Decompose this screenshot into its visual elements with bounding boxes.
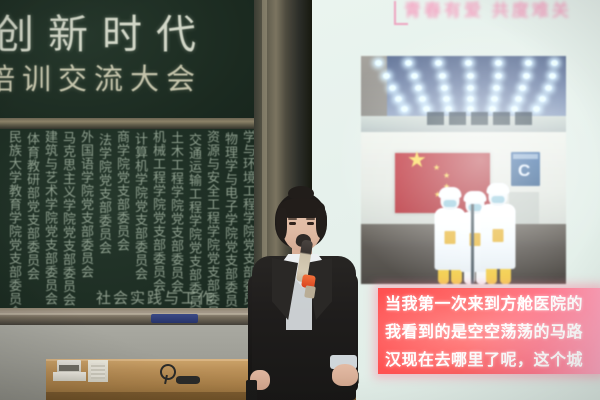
remote-receiver-icon	[176, 376, 200, 384]
desk-eraser-icon	[88, 360, 108, 382]
blackboard-eraser-icon	[151, 314, 198, 323]
chalk-column: 马克思主义学院党支部委员会	[60, 131, 74, 307]
microphone-tail	[304, 285, 316, 298]
slide-photo-field-hospital: ★ ★ ★ ★	[361, 56, 566, 284]
subtitle-line-1: 当我第一次来到方舱医院的	[385, 290, 583, 314]
chalk-column: 机械工程学院党支部委员会	[150, 130, 164, 292]
chalk-column: 建筑与艺术学院党支部委员会	[42, 130, 56, 306]
presenter-eye-left	[289, 222, 296, 225]
classroom-presentation-photo: 青春有爱 共度难关	[0, 0, 600, 400]
presenter-hair-side-left	[276, 208, 287, 240]
presenter-hair-side-right	[316, 208, 327, 238]
chalk-column: 民族大学教育学院党支部委员会	[6, 130, 20, 319]
presenter-eye-right	[307, 222, 314, 225]
student-presenter	[228, 192, 368, 400]
presenter-right-hand	[332, 364, 358, 386]
chalk-column: 商学院党支部委员会	[114, 130, 128, 252]
photo-ceiling-lights	[361, 56, 566, 120]
presenter-eyebrow-left	[288, 218, 297, 220]
chalk-column: 计算机学院党支部委员会	[132, 132, 146, 281]
photo-sign-text-blur	[513, 154, 538, 159]
photo-window-row	[427, 112, 535, 125]
chalk-column: 法学院党支部委员会	[96, 133, 110, 255]
subtitle-line-3: 汉现在去哪里了呢，这个城	[385, 346, 583, 370]
slide-pink-handwriting: 青春有爱 共度难关	[404, 0, 594, 18]
blackboard-chalk-columns: 学与环境工程学院党支部委员会 物理学与电子学院党支部委员会 资源与安全工程学院党…	[0, 130, 258, 312]
subtitle-line-2: 我看到的是空空荡荡的马路	[385, 318, 583, 342]
chalk-column: 外国语学院党支部委员会	[78, 130, 92, 279]
presenter-clicker-icon	[246, 380, 257, 400]
chalk-column: 土木工程学院党支部委员会	[168, 131, 182, 293]
hazmat-group-pole	[471, 204, 475, 284]
chalk-tray	[0, 308, 258, 325]
blackboard-subheadline: 培训交流大会	[0, 56, 252, 98]
blackboard-divider	[0, 118, 258, 129]
chalk-tray-highlight	[0, 313, 258, 315]
blackboard-headline: 创新时代	[0, 2, 260, 60]
slide-subtitle-block: 当我第一次来到方舱医院的 我看到的是空空荡荡的马路 汉现在去哪里了呢，这个城	[378, 288, 600, 374]
chalk-box-open-icon	[53, 372, 86, 381]
presenter-eyebrow-right	[306, 218, 315, 220]
chalk-column: 体育教研部党支部委员会	[24, 132, 38, 281]
hazmat-figure-right	[480, 176, 516, 284]
